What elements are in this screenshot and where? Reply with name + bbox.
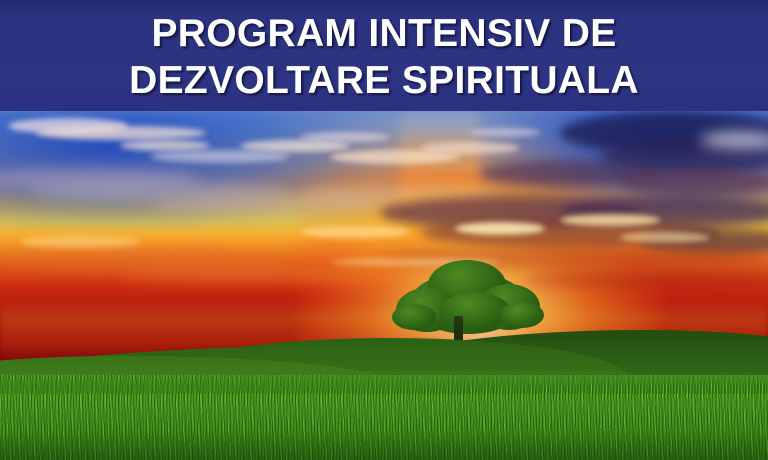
cloud xyxy=(300,132,390,142)
cloud xyxy=(520,272,768,288)
cloud xyxy=(420,142,520,154)
grass-shadow xyxy=(0,430,768,460)
cloud xyxy=(470,128,540,137)
poster: PROGRAM INTENSIV DE DEZVOLTARE SPIRITUAL… xyxy=(0,0,768,460)
tree-canopy xyxy=(500,302,544,328)
cloud xyxy=(560,214,660,226)
cloud xyxy=(20,236,140,248)
title-line-2: DEZVOLTARE SPIRITUALA xyxy=(129,57,639,104)
cloud xyxy=(120,140,210,151)
cloud xyxy=(300,226,410,238)
title-banner: PROGRAM INTENSIV DE DEZVOLTARE SPIRITUAL… xyxy=(0,0,768,111)
cloud xyxy=(36,126,206,140)
cloud xyxy=(150,150,290,163)
cloud xyxy=(620,232,710,243)
cloud xyxy=(620,168,768,196)
title-line-1: PROGRAM INTENSIV DE xyxy=(151,10,616,57)
grass-tips xyxy=(0,368,768,394)
cloud xyxy=(120,268,400,282)
tree-canopy xyxy=(392,304,436,330)
tree-canopy xyxy=(440,292,510,330)
cloud xyxy=(455,222,545,235)
